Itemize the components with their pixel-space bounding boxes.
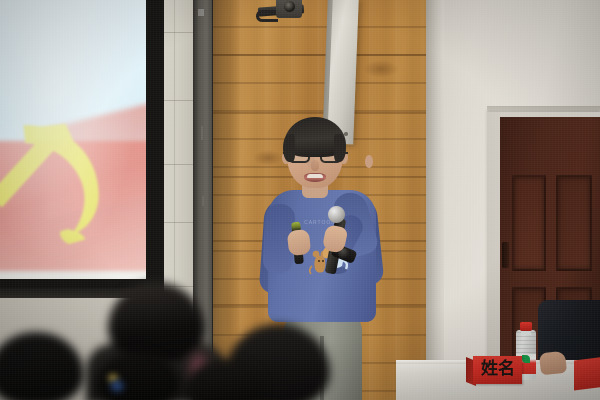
name-placard[interactable]: 姓名 [466,356,522,384]
photo-scene: CARTOON [0,0,600,400]
audience-head [0,332,100,400]
door-handle[interactable] [502,242,509,268]
audience-head [186,360,266,400]
microphone-head [328,206,345,223]
party-emblem-icon [0,102,122,252]
attendee-hand [539,351,567,376]
presenter-left-hand [287,229,311,256]
name-placard-secondary[interactable] [574,356,600,391]
name-placard-text: 姓名 [481,361,515,378]
bottle-cap [520,322,532,331]
wall-corner [426,0,444,400]
leaf-logo-icon [522,355,530,363]
projector-screen [0,0,146,279]
audience-accessory-accent-2 [108,378,126,394]
camera-lens-icon [284,1,295,12]
projector-screen-frame [0,0,164,294]
camera-mount-arm [256,10,278,22]
